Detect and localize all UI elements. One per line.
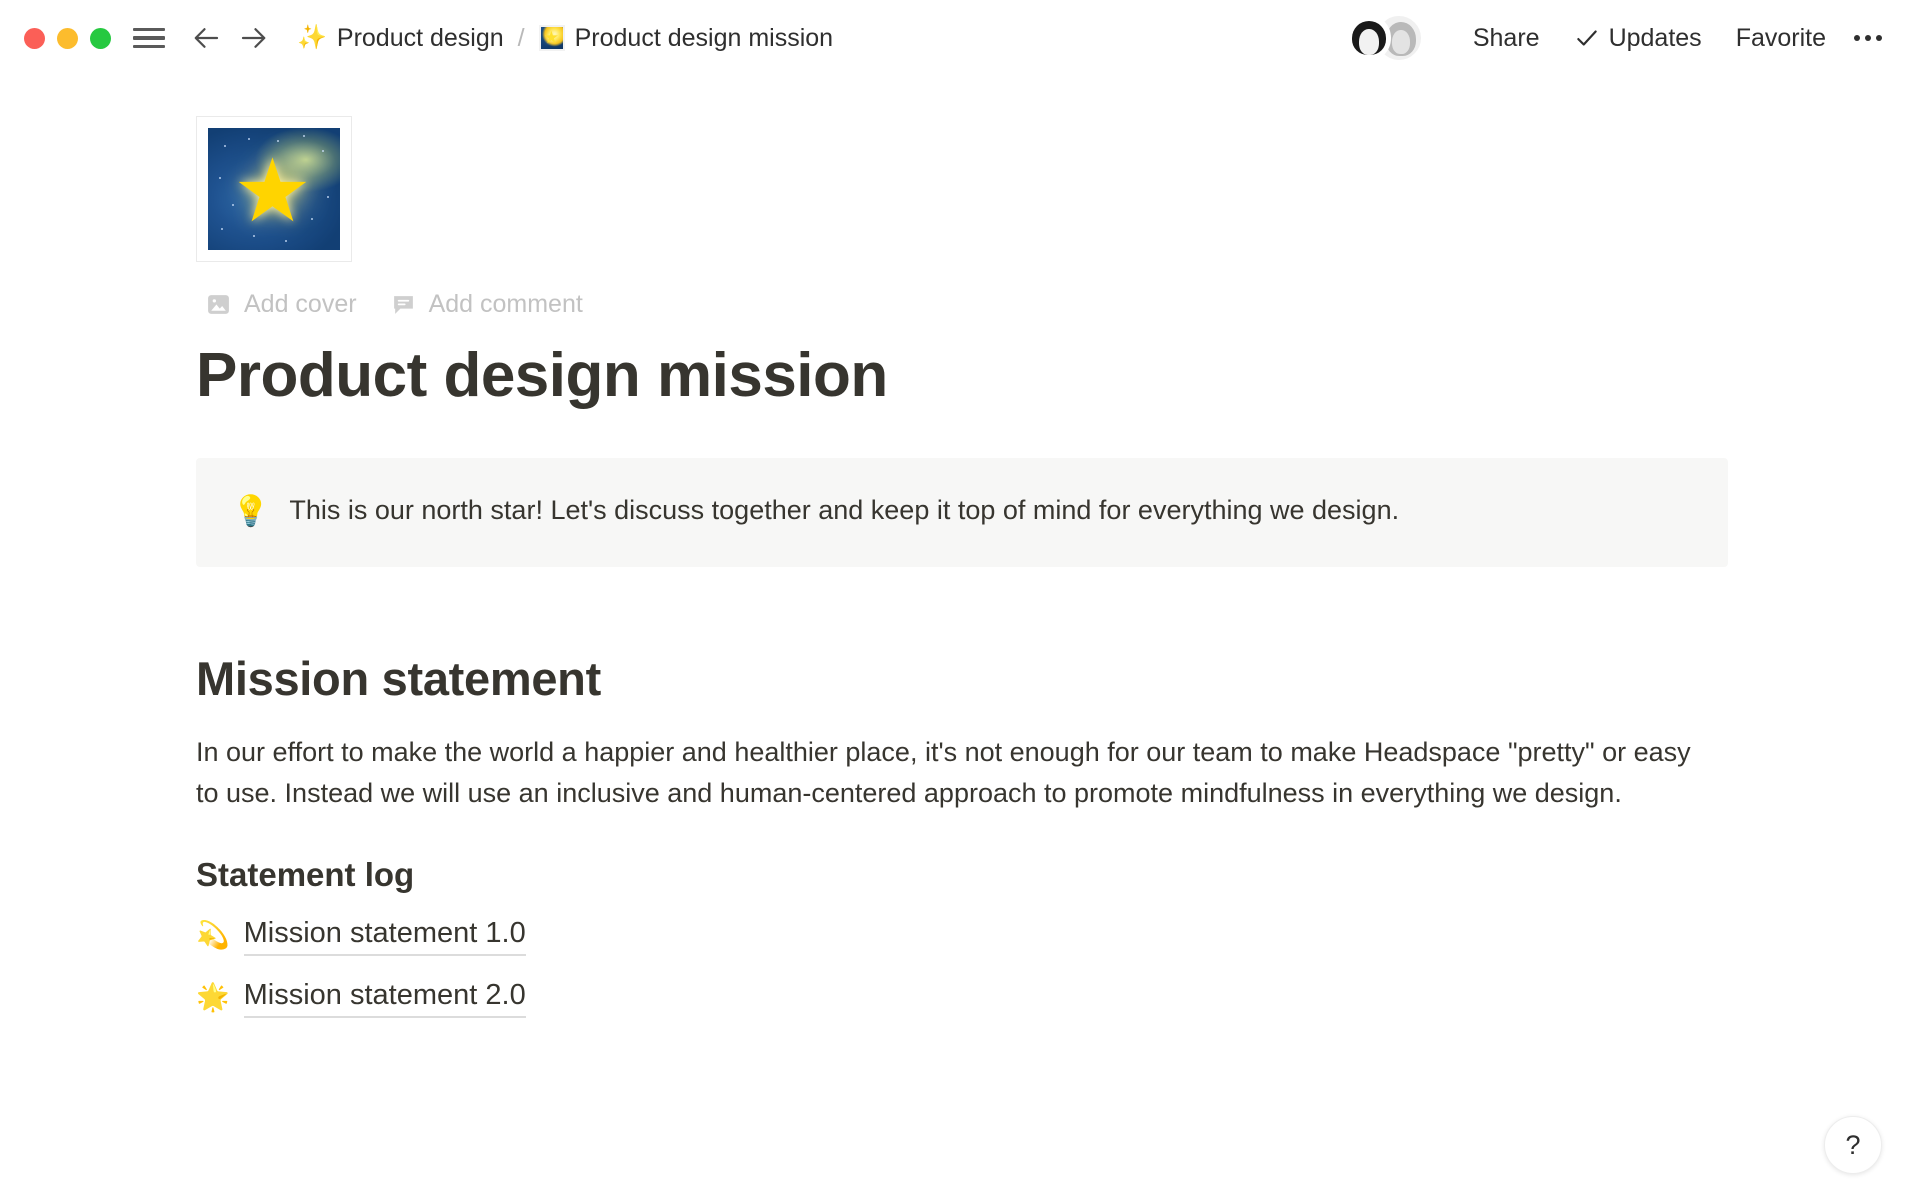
add-cover-button[interactable]: Add cover: [206, 290, 357, 319]
share-label: Share: [1473, 24, 1540, 53]
mission-statement-paragraph[interactable]: In our effort to make the world a happie…: [196, 732, 1716, 814]
breadcrumb-separator: /: [518, 24, 525, 53]
updates-button[interactable]: Updates: [1562, 18, 1714, 59]
breadcrumb: ✨ Product design / Product design missio…: [297, 24, 833, 53]
add-comment-button[interactable]: Add comment: [391, 290, 583, 319]
close-window-button[interactable]: [24, 28, 45, 49]
check-icon: [1574, 25, 1600, 51]
avatar-1[interactable]: [1343, 14, 1391, 62]
star-glyph: ★: [233, 147, 312, 235]
callout-block[interactable]: 💡 This is our north star! Let's discuss …: [196, 458, 1728, 567]
hamburger-menu-icon[interactable]: [133, 25, 165, 51]
page-icon-artwork: ★: [208, 128, 340, 250]
help-button[interactable]: ?: [1824, 1116, 1882, 1174]
page-body: ★ Add cover Add comment Product design m…: [0, 76, 1920, 1200]
comment-icon: [391, 292, 416, 317]
arrow-left-icon[interactable]: [189, 20, 225, 56]
page-link-label: Mission statement 1.0: [244, 916, 526, 956]
breadcrumb-item-parent[interactable]: ✨ Product design: [297, 24, 504, 53]
collaborator-avatars[interactable]: [1343, 14, 1423, 62]
subsection-heading-statement-log[interactable]: Statement log: [196, 856, 1728, 894]
breadcrumb-parent-label: Product design: [337, 24, 504, 53]
callout-text: This is our north star! Let's discuss to…: [289, 492, 1399, 530]
breadcrumb-item-current[interactable]: Product design mission: [539, 24, 833, 53]
breadcrumb-current-label: Product design mission: [575, 24, 833, 53]
dizzy-star-icon: 💫: [196, 922, 230, 949]
page-title[interactable]: Product design mission: [196, 341, 1728, 410]
image-icon: [206, 292, 231, 317]
maximize-window-button[interactable]: [90, 28, 111, 49]
page-link-mission-statement-1[interactable]: 💫 Mission statement 1.0: [196, 916, 1728, 956]
share-button[interactable]: Share: [1461, 18, 1552, 59]
window-titlebar: ✨ Product design / Product design missio…: [0, 0, 1920, 76]
favorite-button[interactable]: Favorite: [1724, 18, 1838, 59]
minimize-window-button[interactable]: [57, 28, 78, 49]
traffic-light-buttons: [24, 28, 111, 49]
page-content: ★ Add cover Add comment Product design m…: [196, 116, 1728, 1018]
add-comment-label: Add comment: [429, 290, 583, 319]
section-heading-mission-statement[interactable]: Mission statement: [196, 651, 1728, 706]
updates-label: Updates: [1609, 24, 1702, 53]
topbar-actions: Share Updates Favorite: [1343, 14, 1892, 62]
add-cover-label: Add cover: [244, 290, 357, 319]
ellipsis-icon[interactable]: [1838, 29, 1892, 47]
page-link-mission-statement-2[interactable]: 🌟 Mission statement 2.0: [196, 978, 1728, 1018]
page-meta-actions: Add cover Add comment: [196, 290, 1728, 319]
arrow-right-icon[interactable]: [235, 20, 271, 56]
page-link-label: Mission statement 2.0: [244, 978, 526, 1018]
shooting-star-icon: [539, 25, 565, 51]
shooting-star-page-icon[interactable]: ★: [196, 116, 352, 262]
favorite-label: Favorite: [1736, 24, 1826, 53]
lightbulb-icon: 💡: [232, 492, 269, 533]
glowing-star-icon: 🌟: [196, 984, 230, 1011]
sparkles-icon: ✨: [297, 26, 327, 50]
